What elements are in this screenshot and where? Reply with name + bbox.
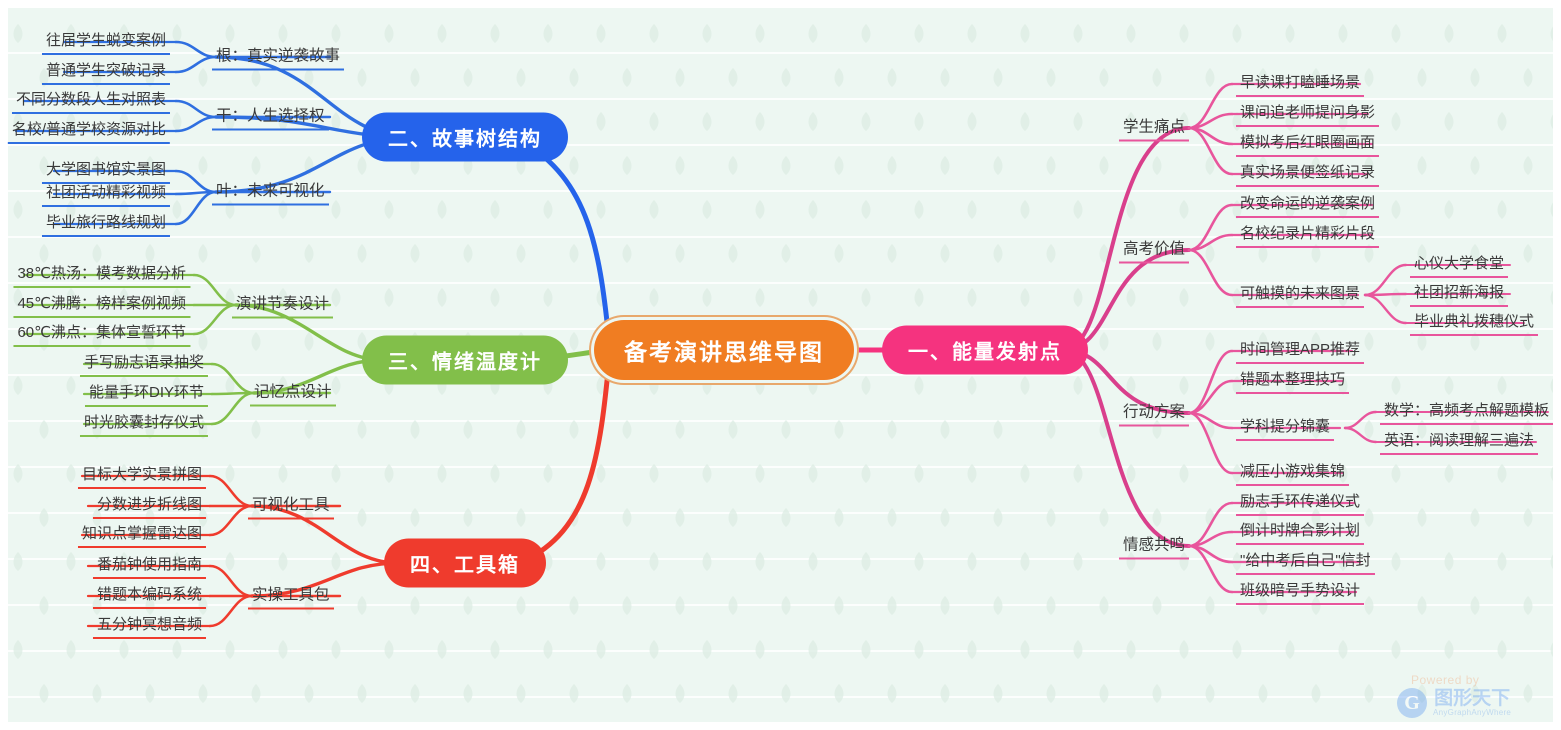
leaf-node[interactable]: 手写励志语录抽奖 [80,351,208,377]
mindmap-screenshot: 备考演讲思维导图 一、能量发射点 二、故事树结构 三、情绪温度计 四、工具箱 学… [0,0,1561,730]
mid-node-trunk-choice[interactable]: 干：人生选择权 [212,104,329,131]
mid-node-student-pain[interactable]: 学生痛点 [1119,115,1189,142]
leaf-node[interactable]: 倒计时牌合影计划 [1236,519,1364,545]
leaf-node[interactable]: 往届学生蜕变案例 [42,29,170,55]
root-node[interactable]: 备考演讲思维导图 [594,320,854,380]
leaf-node[interactable]: 名校纪录片精彩片段 [1236,222,1379,248]
mid-node-visual-tools[interactable]: 可视化工具 [248,493,334,520]
leaf-node[interactable]: 改变命运的逆袭案例 [1236,192,1379,218]
mid-node-action-plan[interactable]: 行动方案 [1119,400,1189,427]
mid-node-speech-rhythm[interactable]: 演讲节奏设计 [232,292,333,319]
mid-node-future-vision[interactable]: 可触摸的未来图景 [1236,282,1364,308]
leaf-node[interactable]: 模拟考后红眼圈画面 [1236,131,1379,157]
leaf-node[interactable]: 名校/普通学校资源对比 [8,118,170,144]
leaf-node[interactable]: 早读课打瞌睡场景 [1236,71,1364,97]
mid-node-emotional-resonance[interactable]: 情感共鸣 [1119,533,1189,560]
mid-node-leaf-future[interactable]: 叶：未来可视化 [212,179,329,206]
branch-node-energy[interactable]: 一、能量发射点 [882,326,1088,375]
leaf-node[interactable]: 毕业典礼拨穗仪式 [1410,310,1538,336]
leaf-node[interactable]: 社团招新海报 [1410,281,1508,307]
leaf-node[interactable]: 分数进步折线图 [93,493,206,519]
mid-node-root-story[interactable]: 根：真实逆袭故事 [212,44,344,71]
leaf-node[interactable]: 减压小游戏集锦 [1236,460,1349,486]
leaf-node[interactable]: 励志手环传递仪式 [1236,490,1364,516]
leaf-node[interactable]: 错题本编码系统 [93,583,206,609]
leaf-node[interactable]: 五分钟冥想音频 [93,613,206,639]
branch-node-story[interactable]: 二、故事树结构 [362,113,568,162]
leaf-node[interactable]: 心仪大学食堂 [1410,252,1508,278]
leaf-node[interactable]: 错题本整理技巧 [1236,368,1349,394]
leaf-node[interactable]: 不同分数段人生对照表 [12,88,170,114]
leaf-node[interactable]: 英语：阅读理解三遍法 [1380,429,1538,455]
leaf-node[interactable]: 课间追老师提问身影 [1236,101,1379,127]
leaf-node[interactable]: "给中考后自己"信封 [1236,549,1375,575]
leaf-node[interactable]: 38℃热汤：模考数据分析 [13,262,190,288]
leaf-node[interactable]: 毕业旅行路线规划 [42,211,170,237]
mid-node-subject-tips[interactable]: 学科提分锦囊 [1236,415,1334,441]
mid-node-practical-toolkit[interactable]: 实操工具包 [248,583,334,610]
branch-node-emotion[interactable]: 三、情绪温度计 [362,336,568,385]
mid-node-gaokao-value[interactable]: 高考价值 [1119,237,1189,264]
leaf-node[interactable]: 真实场景便签纸记录 [1236,161,1379,187]
leaf-node[interactable]: 普通学生突破记录 [42,59,170,85]
leaf-node[interactable]: 番茄钟使用指南 [93,553,206,579]
leaf-node[interactable]: 数学：高频考点解题模板 [1380,399,1553,425]
leaf-node[interactable]: 目标大学实景拼图 [78,463,206,489]
leaf-node[interactable]: 45℃沸腾：榜样案例视频 [13,292,190,318]
branch-node-toolbox[interactable]: 四、工具箱 [384,539,546,588]
leaf-node[interactable]: 班级暗号手势设计 [1236,579,1364,605]
leaf-node[interactable]: 能量手环DIY环节 [85,381,208,407]
mid-node-memory-point[interactable]: 记忆点设计 [250,380,336,407]
leaf-node[interactable]: 知识点掌握雷达图 [78,522,206,548]
leaf-node[interactable]: 时间管理APP推荐 [1236,338,1364,364]
leaf-node[interactable]: 60℃沸点：集体宣誓环节 [13,321,190,347]
leaf-node[interactable]: 时光胶囊封存仪式 [80,411,208,437]
leaf-node[interactable]: 社团活动精彩视频 [42,181,170,207]
